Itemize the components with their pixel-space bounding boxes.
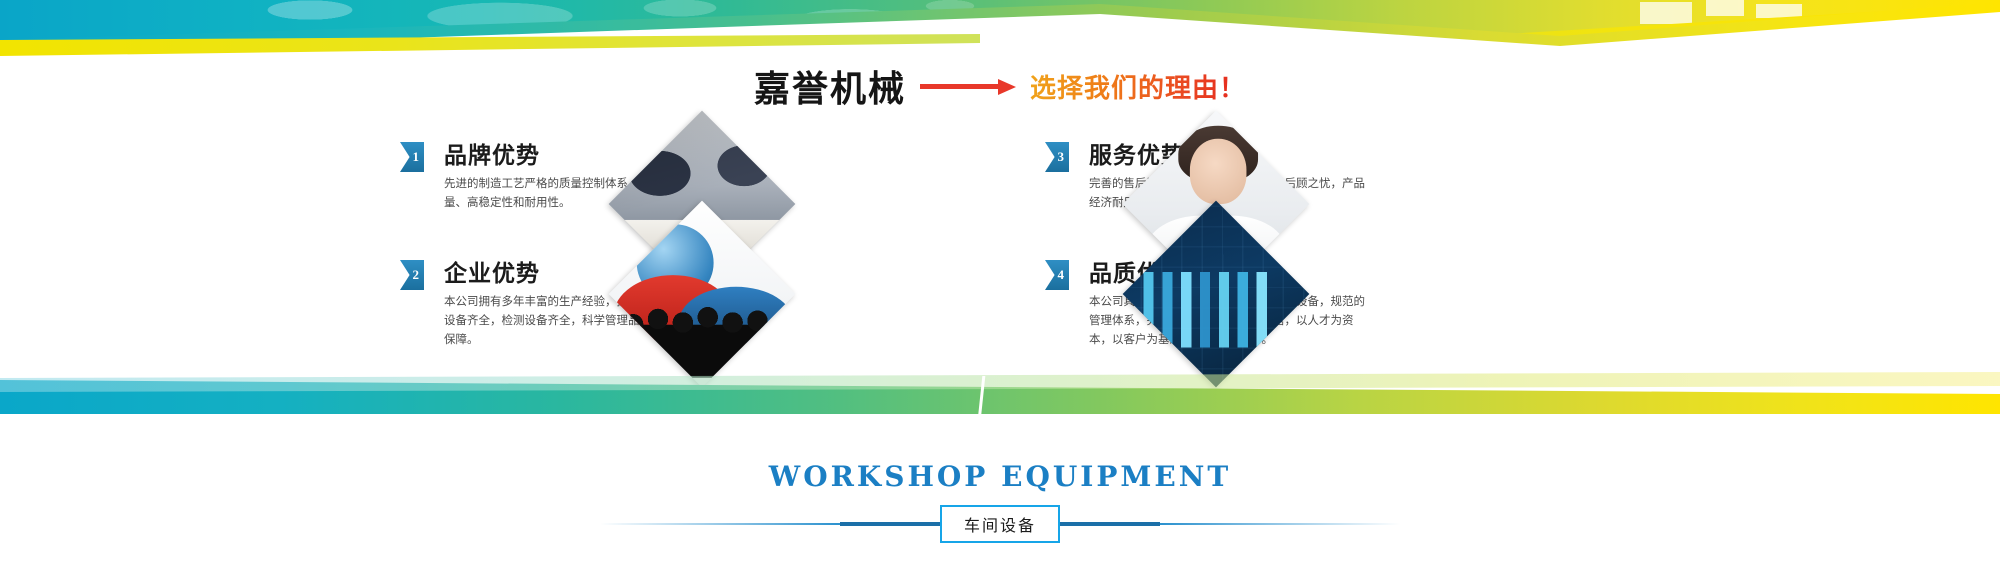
bottom-banner <box>0 370 2000 420</box>
headline-row: 嘉誉机械 选择我们的理由！ <box>0 56 2000 116</box>
footer-line-right-thick <box>1082 522 1160 526</box>
footer-line-right-thin <box>1160 523 1400 525</box>
features-section: 1 品牌优势 先进的制造工艺严格的质量控制体系，产品具有高质量、高稳定性和耐用性… <box>0 140 2000 370</box>
feature-title-2: 企业优势 <box>444 254 540 288</box>
footer-tick-left <box>918 522 940 526</box>
feature-number-badge-1: 1 <box>400 142 424 172</box>
brand-title: 嘉誉机械 <box>754 60 906 112</box>
right-arrow-icon <box>920 79 1016 93</box>
feature-number-2: 2 <box>413 267 425 283</box>
footer-tick-right <box>1060 522 1082 526</box>
banner-swatch-1 <box>1640 2 1692 24</box>
footer-chinese-title: 车间设备 <box>940 505 1060 543</box>
feature-number-badge-3: 3 <box>1045 142 1069 172</box>
feature-number-badge-4: 4 <box>1045 260 1069 290</box>
poster-page: 嘉誉机械 选择我们的理由！ 1 品牌优势 先进的制造工艺严格的质量控制体系，产品… <box>0 0 2000 577</box>
footer-english-title: WORKSHOP EQUIPMENT <box>0 460 2000 493</box>
feature-number-3: 3 <box>1058 149 1070 165</box>
feature-number-1: 1 <box>413 149 425 165</box>
footer-subtitle-row: 车间设备 <box>0 507 2000 541</box>
banner-swatch-3 <box>1756 4 1802 18</box>
footer-line-left-thick <box>840 522 918 526</box>
feature-number-badge-2: 2 <box>400 260 424 290</box>
bottom-light-stripe <box>0 372 2000 392</box>
footer-line-left-thin <box>600 523 840 525</box>
headline-tagline: 选择我们的理由！ <box>1030 68 1246 105</box>
feature-number-4: 4 <box>1058 267 1070 283</box>
footer-section: WORKSHOP EQUIPMENT 车间设备 <box>0 460 2000 540</box>
feature-title-1: 品牌优势 <box>444 136 540 170</box>
banner-swatch-2 <box>1706 0 1744 16</box>
